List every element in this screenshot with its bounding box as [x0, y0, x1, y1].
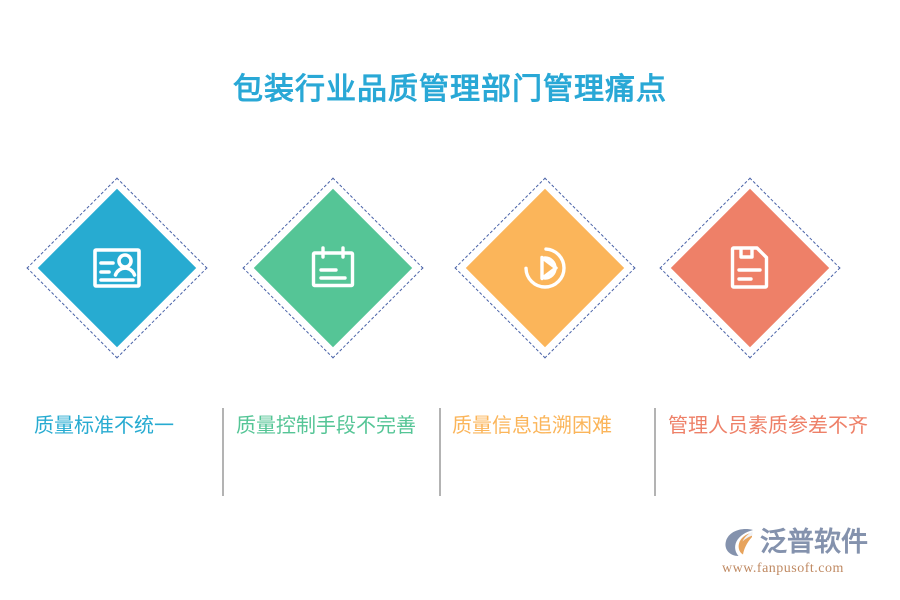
id-card-icon — [90, 241, 144, 295]
pain-point-label-2: 质量控制手段不完善 — [236, 412, 416, 440]
diamond-item-4[interactable] — [655, 170, 845, 365]
poster-canvas: 包装行业品质管理部门管理痛点 — [0, 0, 900, 600]
brand-logo[interactable]: 泛普软件 www.fanpusoft.com — [722, 524, 882, 582]
label-divider-3 — [654, 408, 656, 496]
label-divider-1 — [222, 408, 224, 496]
logo-top-row: 泛普软件 — [722, 524, 882, 560]
diamond-item-1[interactable] — [22, 170, 212, 365]
notepad-icon — [306, 241, 360, 295]
logo-website-url: www.fanpusoft.com — [722, 561, 882, 577]
label-divider-2 — [439, 408, 441, 496]
diamond-item-3[interactable] — [450, 170, 640, 365]
fanpu-swoosh-icon — [722, 525, 758, 559]
diamond-item-2[interactable] — [238, 170, 428, 365]
page-title: 包装行业品质管理部门管理痛点 — [0, 64, 900, 108]
pie-chart-icon — [518, 241, 572, 295]
pain-point-label-1: 质量标准不统一 — [34, 412, 174, 440]
diamond-icon-row — [0, 170, 900, 370]
logo-brand-name: 泛普软件 — [760, 525, 868, 559]
pain-point-label-3: 质量信息追溯困难 — [452, 412, 612, 440]
document-save-icon — [723, 241, 777, 295]
label-row: 质量标准不统一 质量控制手段不完善 质量信息追溯困难 管理人员素质参差不齐 — [0, 404, 900, 504]
pain-point-label-4: 管理人员素质参差不齐 — [668, 412, 868, 440]
